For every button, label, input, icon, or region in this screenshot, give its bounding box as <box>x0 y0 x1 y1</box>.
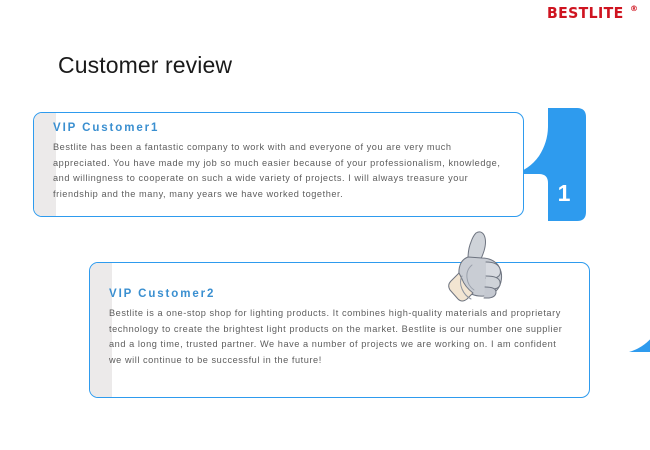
review-card-2: 2 VIP Customer2 Bestlite is a one-stop s… <box>89 262 617 398</box>
review-text-2: Bestlite is a one-stop shop for lighting… <box>109 306 571 368</box>
brand-name: BESTLITE <box>547 6 624 21</box>
page-title: Customer review <box>58 52 232 79</box>
review-card-1-content: VIP Customer1 Bestlite has been a fantas… <box>53 113 505 216</box>
review-text-1: Bestlite has been a fantastic company to… <box>53 140 505 202</box>
brand-logo: BESTLITE ® <box>547 6 638 21</box>
thumbs-up-icon <box>446 229 510 307</box>
trademark-icon: ® <box>630 5 638 13</box>
review-card-2-body: VIP Customer2 Bestlite is a one-stop sho… <box>89 262 590 398</box>
review-card-1: 1 VIP Customer1 Bestlite has been a fant… <box>33 112 553 217</box>
review-heading-1: VIP Customer1 <box>53 122 505 134</box>
review-number-1: 1 <box>548 180 580 207</box>
review-number-tab-2: 2 <box>617 258 650 402</box>
review-card-1-body: VIP Customer1 Bestlite has been a fantas… <box>33 112 524 217</box>
